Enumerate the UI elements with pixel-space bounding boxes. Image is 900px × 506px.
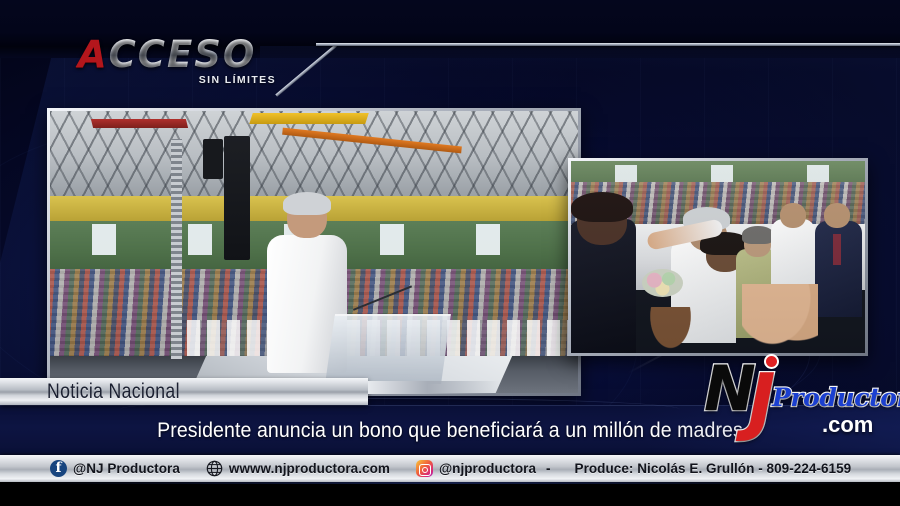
inset-photo <box>568 158 868 356</box>
footer-facebook[interactable]: @NJ Productora <box>50 460 180 477</box>
inset-photo-scene <box>571 161 865 353</box>
letterbox-bottom <box>0 482 900 506</box>
nj-productora-logo: N J Productora .com <box>700 352 890 450</box>
stage-truss-post <box>171 139 182 359</box>
category-bar: Noticia Nacional <box>0 378 368 405</box>
main-photo <box>47 108 581 396</box>
category-label: Noticia Nacional <box>47 379 180 405</box>
footer-items: @NJ Productora wwww.njproductora.com <box>0 460 900 477</box>
letterbox-glow <box>0 482 900 484</box>
footer-separator: - <box>536 461 561 476</box>
ceiling-red-beam <box>91 119 188 128</box>
instagram-icon <box>416 460 433 477</box>
stage-speaker-small <box>203 139 223 178</box>
nj-red-dot <box>764 354 779 369</box>
podium <box>325 314 451 384</box>
footer-bar: @NJ Productora wwww.njproductora.com <box>0 455 900 482</box>
speaker-hair <box>283 192 331 215</box>
website-url: wwww.njproductora.com <box>229 461 390 476</box>
inset-photo-grade <box>571 161 865 353</box>
stage-speaker-large <box>224 136 250 260</box>
acceso-logo-accent-letter: A <box>78 36 109 73</box>
acceso-wordmark: ACCESO <box>78 36 278 73</box>
main-photo-scene <box>50 111 578 393</box>
footer-instagram[interactable]: @njproductora <box>416 460 536 477</box>
nj-productora-wordmark: Productora <box>772 385 900 410</box>
acceso-logo: ACCESO SIN LÍMITES <box>78 36 278 88</box>
facebook-icon <box>50 460 67 477</box>
facebook-handle: @NJ Productora <box>73 461 180 476</box>
instagram-handle: @njproductora <box>439 461 536 476</box>
producer-credit: Produce: Nicolás E. Grullón - 809-224-61… <box>575 461 852 476</box>
ceiling-yellow-beam <box>249 113 369 124</box>
nj-tld: .com <box>822 414 873 436</box>
sweep-horizontal-line <box>316 43 900 46</box>
footer-website[interactable]: wwww.njproductora.com <box>206 460 390 477</box>
acceso-logo-rest: CCESO <box>109 36 257 73</box>
globe-icon <box>206 460 223 477</box>
broadcast-frame: ACCESO SIN LÍMITES <box>0 0 900 506</box>
